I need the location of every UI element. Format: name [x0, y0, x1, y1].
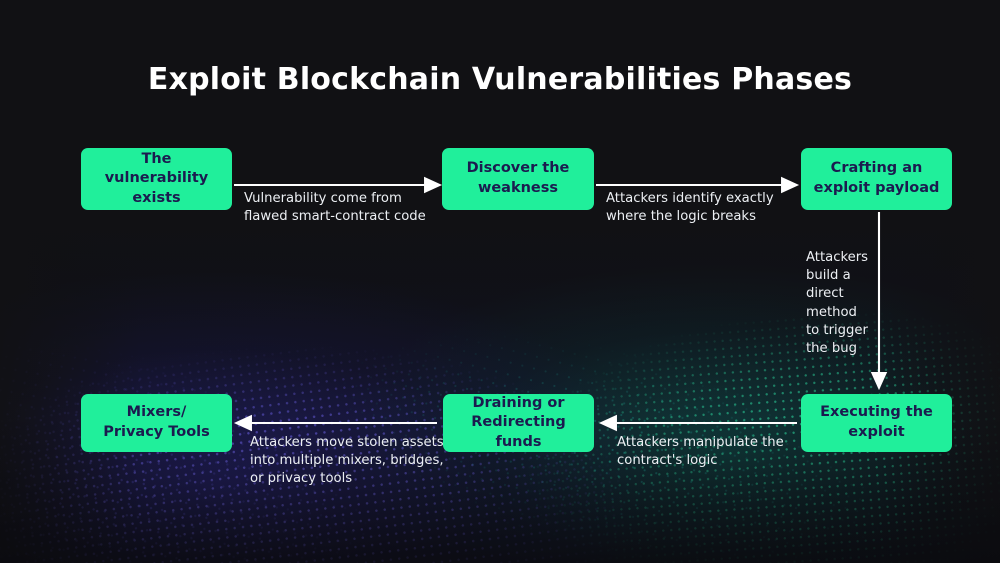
phase-line-1: Executing the	[820, 403, 933, 423]
edge-label-vulnerability-to-discover: Vulnerability come from flawed smart-con…	[244, 190, 454, 226]
phase-box-mixers-privacy-tools[interactable]: Mixers/ Privacy Tools	[81, 394, 232, 452]
phase-box-discover-weakness[interactable]: Discover the weakness	[442, 148, 594, 210]
phase-line-1: Mixers/	[103, 403, 210, 423]
phase-line-2: exploit	[820, 423, 933, 443]
phase-line-1: Discover the	[467, 159, 570, 179]
edge-label-discover-to-crafting: Attackers identify exactly where the log…	[606, 190, 821, 226]
phase-line-1: Draining or	[451, 394, 586, 414]
edge-label-crafting-to-executing: Attackers build a direct method to trigg…	[806, 249, 880, 358]
phase-line-2: exists	[89, 189, 224, 209]
phase-line-2: exploit payload	[814, 179, 940, 199]
edge-label-draining-to-mixers: Attackers move stolen assets into multip…	[250, 434, 465, 489]
edge-label-executing-to-draining: Attackers manipulate the contract's logi…	[617, 434, 817, 470]
phase-line-2: Redirecting funds	[451, 413, 586, 452]
phase-box-crafting-payload[interactable]: Crafting an exploit payload	[801, 148, 952, 210]
phase-line-1: Crafting an	[814, 159, 940, 179]
phase-line-2: weakness	[467, 179, 570, 199]
phase-line-2: Privacy Tools	[103, 423, 210, 443]
slide-canvas: Exploit Blockchain Vulnerabilities Phase…	[0, 0, 1000, 563]
phase-box-executing-exploit[interactable]: Executing the exploit	[801, 394, 952, 452]
phase-line-1: The vulnerability	[89, 150, 224, 189]
phase-box-vulnerability-exists[interactable]: The vulnerability exists	[81, 148, 232, 210]
phase-box-draining-funds[interactable]: Draining or Redirecting funds	[443, 394, 594, 452]
